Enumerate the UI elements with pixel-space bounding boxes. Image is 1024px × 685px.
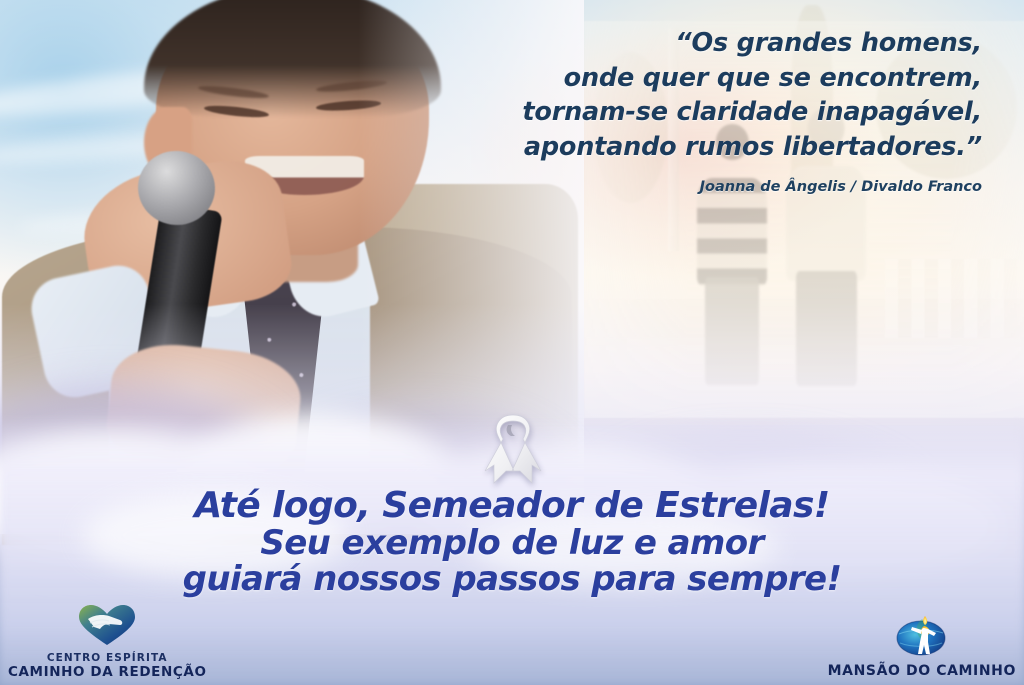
logo-left-text: CENTRO ESPÍRITA CAMINHO DA REDENÇÃO: [8, 653, 207, 680]
logo-right-text: MANSÃO DO CAMINHO: [828, 664, 1016, 680]
logo-left-line-2: CAMINHO DA REDENÇÃO: [8, 665, 207, 680]
quote-block: “Os grandes homens, onde quer que se enc…: [422, 26, 982, 197]
quote-line-4: apontando rumos libertadores.”: [422, 130, 982, 165]
headline-line-2: Seu exemplo de luz e amor: [0, 525, 1024, 561]
memorial-poster: “Os grandes homens, onde quer que se enc…: [0, 0, 1024, 685]
headline-line-1: Até logo, Semeador de Estrelas!: [0, 487, 1024, 525]
logo-right-line-1: MANSÃO DO CAMINHO: [828, 664, 1016, 680]
logo-mansao-do-caminho: MANSÃO DO CAMINHO: [828, 612, 1016, 680]
headline-block: Até logo, Semeador de Estrelas! Seu exem…: [0, 487, 1024, 597]
quote-line-2: onde quer que se encontrem,: [422, 61, 982, 96]
globe-figure-flame-icon: [894, 612, 950, 662]
quote-line-3: tornam-se claridade inapagável,: [422, 95, 982, 130]
quote-line-1: “Os grandes homens,: [422, 26, 982, 61]
mourning-ribbon-icon: [481, 409, 545, 485]
quote-attribution: Joanna de Ângelis / Divaldo Franco: [422, 178, 982, 198]
heart-hand-icon: [76, 603, 138, 651]
logo-centro-espirita-caminho-da-redencao: CENTRO ESPÍRITA CAMINHO DA REDENÇÃO: [8, 603, 207, 680]
headline-line-3: guiará nossos passos para sempre!: [0, 561, 1024, 597]
